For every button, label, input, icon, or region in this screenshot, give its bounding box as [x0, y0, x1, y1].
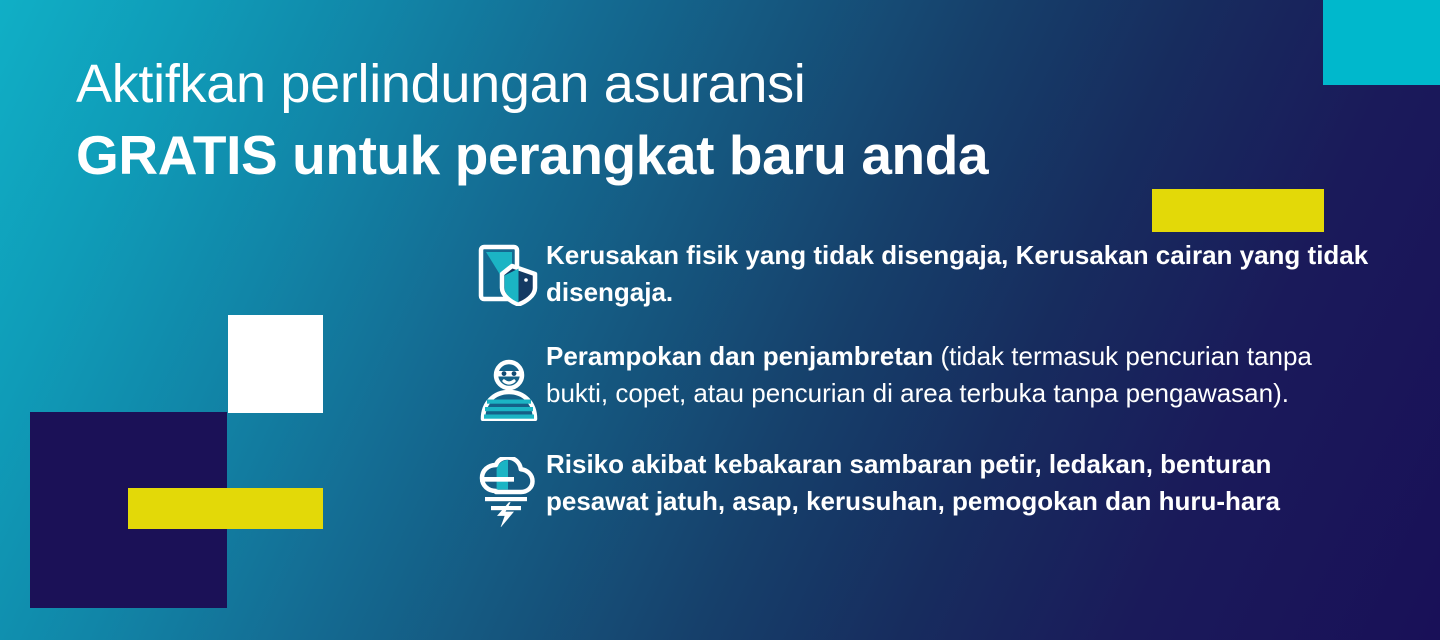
- promo-banner: Aktifkan perlindungan asuransi GRATIS un…: [0, 0, 1440, 640]
- benefit-item: Perampokan dan penjambretan (tidak terma…: [478, 337, 1378, 421]
- decorative-teal-square: [1323, 0, 1440, 85]
- decorative-yellow-bar-right: [1152, 189, 1324, 232]
- headline-line-2: GRATIS untuk perangkat baru anda: [76, 122, 1136, 188]
- headline-block: Aktifkan perlindungan asuransi GRATIS un…: [76, 52, 1136, 188]
- benefit-text: Kerusakan fisik yang tidak disengaja, Ke…: [546, 236, 1378, 311]
- benefit-item: Risiko akibat kebakaran sambaran petir, …: [478, 445, 1378, 527]
- benefits-list: Kerusakan fisik yang tidak disengaja, Ke…: [478, 236, 1378, 527]
- storm-cloud-lightning-icon: [478, 445, 546, 527]
- benefit-text-bold: Kerusakan fisik yang tidak disengaja, Ke…: [546, 240, 1368, 307]
- decorative-white-square: [228, 315, 323, 413]
- benefit-item: Kerusakan fisik yang tidak disengaja, Ke…: [478, 236, 1378, 311]
- benefit-text: Perampokan dan penjambretan (tidak terma…: [546, 337, 1378, 412]
- headline-line-1: Aktifkan perlindungan asuransi: [76, 52, 1136, 116]
- benefit-text-bold: Perampokan dan penjambretan: [546, 341, 933, 371]
- decorative-yellow-bar-left: [128, 488, 323, 529]
- phone-shield-icon: [478, 236, 546, 306]
- benefit-text: Risiko akibat kebakaran sambaran petir, …: [546, 445, 1378, 520]
- benefit-text-bold: Risiko akibat kebakaran sambaran petir, …: [546, 449, 1280, 516]
- burglar-icon: [478, 337, 546, 421]
